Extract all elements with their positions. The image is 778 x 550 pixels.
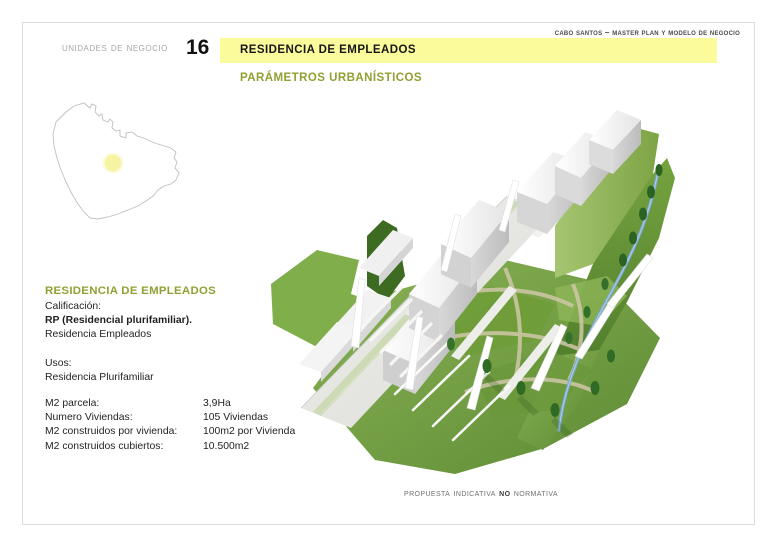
param-key: M2 construidos por vivienda: xyxy=(45,425,203,439)
tree-icon xyxy=(607,350,615,363)
tree-icon xyxy=(483,359,492,373)
tree-icon xyxy=(517,381,526,395)
footer-disclaimer: PROPUESTA INDICATIVA NO NORMATIVA xyxy=(404,487,558,499)
footer-emphasis: NO xyxy=(499,487,510,499)
tree-icon xyxy=(583,306,590,318)
param-key: Numero Viviendas: xyxy=(45,411,203,425)
tree-icon xyxy=(591,381,600,395)
tree-icon xyxy=(551,403,560,417)
tree-icon xyxy=(601,278,608,290)
section-label: UNIDADES DE NEGOCIO xyxy=(62,42,168,54)
footer-prefix: PROPUESTA INDICATIVA xyxy=(404,487,499,499)
location-marker-glow xyxy=(103,153,124,174)
tree-icon xyxy=(629,232,637,245)
tree-icon xyxy=(655,164,662,176)
footer-suffix: NORMATIVA xyxy=(510,487,558,499)
aerial-render-image xyxy=(255,88,755,483)
keyplan-map xyxy=(40,100,220,222)
keyplan-svg xyxy=(40,100,220,222)
unit-number: 16 xyxy=(186,36,209,60)
tree-icon xyxy=(619,254,627,267)
tree-icon xyxy=(565,332,572,344)
tree-icon xyxy=(639,208,647,221)
param-key: M2 construidos cubiertos: xyxy=(45,440,203,454)
tree-icon xyxy=(647,186,655,199)
document-header-title: CABO SANTOS – MASTER PLAN Y MODELO DE NE… xyxy=(555,28,740,37)
param-key: M2 parcela: xyxy=(45,397,203,411)
aerial-render-svg xyxy=(255,88,755,483)
unit-title-band: RESIDENCIA DE EMPLEADOS xyxy=(220,38,717,63)
page-subtitle: PARÁMETROS URBANÍSTICOS xyxy=(240,72,422,84)
tree-icon xyxy=(447,338,455,351)
unit-title-text: RESIDENCIA DE EMPLEADOS xyxy=(240,44,416,56)
slide-canvas: CABO SANTOS – MASTER PLAN Y MODELO DE NE… xyxy=(0,0,778,550)
